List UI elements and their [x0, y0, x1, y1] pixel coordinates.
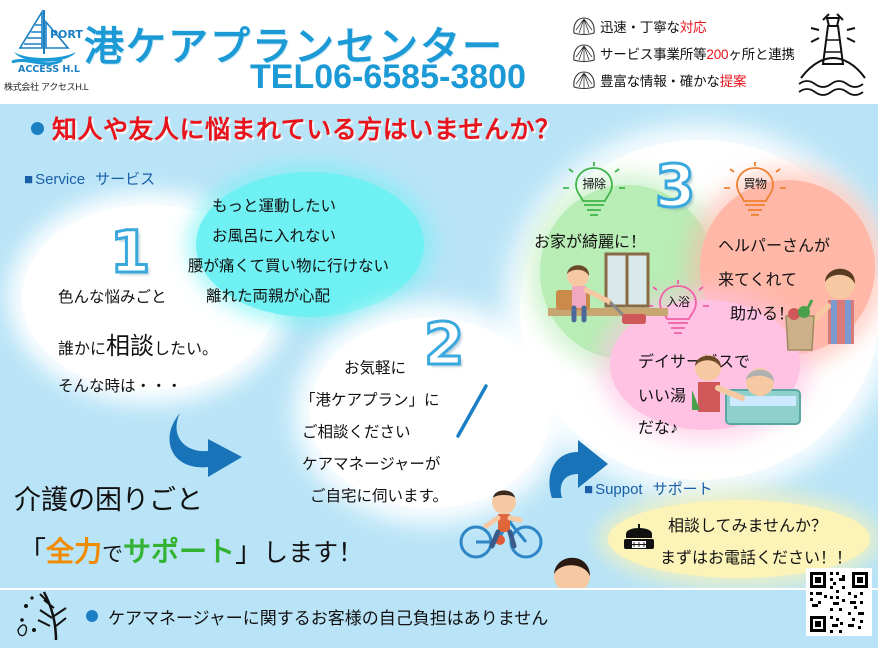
step1-line2-b: 相談	[106, 333, 154, 360]
step2-line4: ケアマネージャーが	[302, 452, 440, 474]
telephone-icon	[622, 522, 656, 552]
support-bubble-line-2: まずはお電話ください！！	[660, 544, 852, 568]
headline-bullet-icon	[31, 122, 44, 135]
page-headline: 知人や友人に悩まれている方はいませんか？	[52, 110, 561, 146]
svg-text:ACCESS H.L: ACCESS H.L	[18, 64, 80, 75]
slogan-line-2: 「全力でサポート」します！	[18, 530, 363, 570]
step1-line3: そんな時は・・・	[58, 374, 182, 396]
worry-line-4: 離れた両親が心配	[206, 284, 330, 306]
bulb-label-cleaning: 掃除	[561, 175, 627, 192]
worry-line-2: お風呂に入れない	[212, 224, 336, 246]
section-marker: ■	[24, 171, 33, 188]
cleaning-text: お家が綺麗に！	[534, 228, 646, 252]
step2-line1: お気軽に	[344, 356, 406, 378]
step2-line3: ご相談ください	[302, 420, 411, 442]
slash-accent-icon	[452, 382, 492, 447]
service-label-jp: サービス	[95, 171, 155, 188]
step1-line2: 誰かに相談したい。	[58, 326, 218, 361]
plant-decoration-icon	[14, 586, 76, 644]
bath-line-3: だな♪	[638, 414, 678, 438]
step2-line5: ご自宅に伺います。	[310, 484, 448, 506]
helper-line-1: ヘルパーさんが	[718, 232, 830, 256]
bulb-label-shopping: 買物	[722, 175, 788, 192]
curved-arrow-right-icon	[160, 405, 270, 482]
step1-line1: 色んな悩みごと	[58, 285, 167, 307]
slogan-support: サポート	[123, 536, 235, 567]
slogan-tail: します！	[263, 539, 363, 567]
support-bubble-line-1: 相談してみませんか？	[668, 512, 827, 536]
step2-line2: 「港ケアプラン」に	[300, 388, 440, 410]
bath-line-2: いい湯	[638, 382, 686, 406]
slogan-line-1: 介護の困りごと	[14, 478, 203, 517]
step1-line2-a: 誰かに	[58, 341, 106, 358]
worry-line-3: 腰が痛くて買い物に行けない	[188, 254, 389, 276]
feature-item: 豊富な情報・確かな提案	[572, 66, 812, 93]
service-section-label: ■Serviceサービス	[24, 168, 155, 189]
step-3-number: 3	[655, 152, 695, 220]
section-marker: ■	[584, 481, 593, 498]
shell-icon	[572, 43, 596, 63]
slogan-de: で	[102, 543, 123, 566]
bulb-icon-shopping: 買物	[722, 160, 788, 222]
service-label-en: Service	[35, 171, 85, 188]
step-1-number: 1	[110, 218, 150, 286]
header-phone-number: TEL06-6585-3800	[250, 58, 526, 97]
shell-icon	[572, 70, 596, 90]
feature-text: サービス事業所等200ヶ所と連携	[600, 43, 795, 63]
support-label-jp: サポート	[653, 481, 713, 498]
svg-text:PORT: PORT	[50, 28, 83, 41]
slogan-open-bracket: 「	[18, 536, 46, 567]
feature-item: サービス事業所等200ヶ所と連携	[572, 39, 812, 66]
shell-icon	[572, 16, 596, 36]
footer-note: ケアマネージャーに関するお客様の自己負担はありません	[108, 604, 548, 629]
woman-vacuuming-illustration	[548, 250, 668, 355]
support-label-en: Suppot	[595, 481, 643, 498]
feature-text: 豊富な情報・確かな提案	[600, 70, 746, 90]
feature-item: 迅速・丁寧な対応	[572, 12, 812, 39]
slogan-close-bracket: 」	[235, 536, 263, 567]
lighthouse-icon	[793, 6, 873, 98]
step-2-number: 2	[424, 310, 464, 378]
company-logo: PORT ACCESS H.L	[6, 4, 84, 82]
qr-code-icon[interactable]	[806, 568, 872, 636]
poster-root: PORT ACCESS H.L 株式会社 アクセスH.L 港ケアプランセンター …	[0, 0, 878, 648]
caregiver-bathing-elderly-illustration	[690, 340, 810, 435]
feature-list: 迅速・丁寧な対応 サービス事業所等200ヶ所と連携	[572, 12, 812, 93]
slogan-zenryoku: 全力	[46, 536, 102, 567]
footer-divider	[0, 588, 878, 590]
worry-line-1: もっと運動したい	[212, 194, 336, 216]
header: PORT ACCESS H.L 株式会社 アクセスH.L 港ケアプランセンター …	[0, 0, 878, 104]
footer-bullet-icon	[86, 610, 98, 622]
step1-line2-c: したい。	[154, 341, 218, 358]
company-caption: 株式会社 アクセスH.L	[4, 80, 124, 93]
support-section-label: ■Suppotサポート	[584, 478, 713, 499]
feature-text: 迅速・丁寧な対応	[600, 16, 706, 36]
bulb-icon-cleaning: 掃除	[561, 160, 627, 222]
